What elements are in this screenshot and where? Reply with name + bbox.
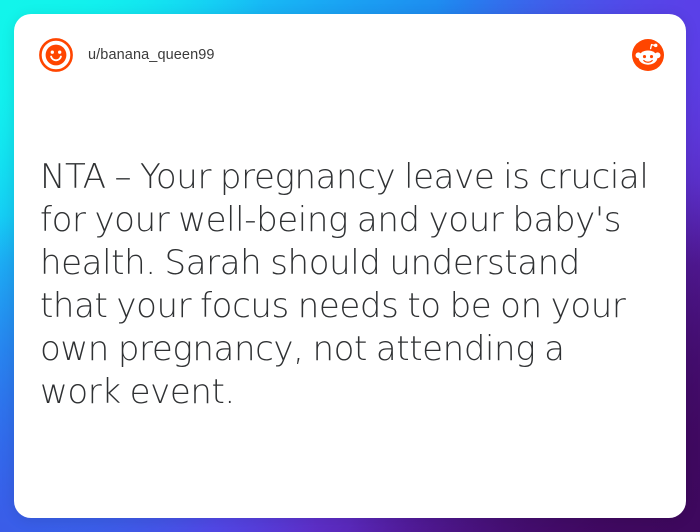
comment-text: NTA – Your pregnancy leave is crucial fo…: [40, 156, 652, 414]
card-body: NTA – Your pregnancy leave is crucial fo…: [40, 156, 652, 414]
card-header: u/banana_queen99: [14, 14, 686, 96]
avatar: [38, 37, 74, 73]
reddit-comment-card: u/banana_queen99 NTA – Your pre: [14, 14, 686, 518]
username-label: u/banana_queen99: [88, 47, 215, 63]
reddit-snoo-logo-icon: [632, 39, 664, 71]
